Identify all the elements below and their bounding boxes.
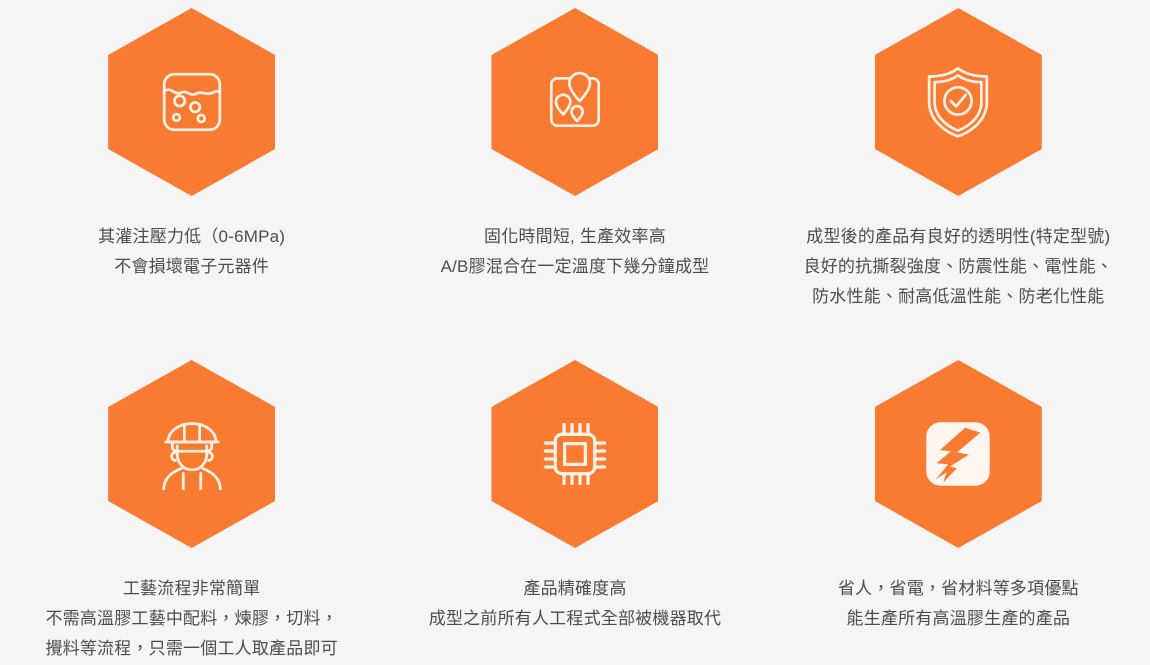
feature-hexagon-1 xyxy=(108,8,275,196)
caption-line: 能生產所有高溫膠生產的產品 xyxy=(838,604,1079,634)
feature-item-3: 成型後的產品有良好的透明性(特定型號) 良好的抗撕裂強度、防震性能、電性能、 防… xyxy=(767,0,1150,312)
worker-helmet-icon xyxy=(157,418,227,490)
caption-line: 其灌注壓力低（0-6MPa) xyxy=(98,222,285,252)
caption-line: 產品精確度高 xyxy=(429,574,721,604)
caption-line: 工藝流程非常簡單 xyxy=(45,574,337,604)
feature-hexagon-2 xyxy=(491,8,658,196)
feature-hexagon-5 xyxy=(491,360,658,548)
feature-caption-6: 省人，省電，省材料等多項優點 能生產所有高溫膠生產的產品 xyxy=(838,574,1079,634)
feature-hexagon-3 xyxy=(875,8,1042,196)
feature-hexagon-4 xyxy=(108,360,275,548)
caption-line: 成型之前所有人工程式全部被機器取代 xyxy=(429,604,721,634)
map-pins-icon xyxy=(542,69,608,135)
shield-check-icon xyxy=(923,65,993,139)
caption-line: 不會損壞電子元器件 xyxy=(98,252,285,282)
caption-line: 防水性能、耐高低溫性能、防老化性能 xyxy=(804,282,1114,312)
lightning-bolt-icon xyxy=(923,419,993,489)
microchip-icon xyxy=(540,419,610,489)
feature-hexagon-6 xyxy=(875,360,1042,548)
feature-item-1: 其灌注壓力低（0-6MPa) 不會損壞電子元器件 xyxy=(0,0,383,282)
feature-item-4: 工藝流程非常簡單 不需高溫膠工藝中配料，煉膠，切料， 攪料等流程，只需一個工人取… xyxy=(0,352,383,664)
liquid-tank-icon xyxy=(159,69,225,135)
feature-item-2: 固化時間短, 生產效率高 A/B膠混合在一定溫度下幾分鐘成型 xyxy=(383,0,766,282)
feature-caption-2: 固化時間短, 生產效率高 A/B膠混合在一定溫度下幾分鐘成型 xyxy=(441,222,710,282)
feature-item-5: 產品精確度高 成型之前所有人工程式全部被機器取代 xyxy=(383,352,766,634)
caption-line: 攪料等流程，只需一個工人取產品即可 xyxy=(45,634,337,664)
caption-line: 良好的抗撕裂強度、防震性能、電性能、 xyxy=(804,252,1114,282)
feature-caption-4: 工藝流程非常簡單 不需高溫膠工藝中配料，煉膠，切料， 攪料等流程，只需一個工人取… xyxy=(45,574,337,664)
features-grid: 其灌注壓力低（0-6MPa) 不會損壞電子元器件 固化時間短, 生產效率高 A/… xyxy=(0,0,1150,665)
feature-caption-5: 產品精確度高 成型之前所有人工程式全部被機器取代 xyxy=(429,574,721,634)
caption-line: 不需高溫膠工藝中配料，煉膠，切料， xyxy=(45,604,337,634)
caption-line: 固化時間短, 生產效率高 xyxy=(441,222,710,252)
caption-line: A/B膠混合在一定溫度下幾分鐘成型 xyxy=(441,252,710,282)
feature-caption-1: 其灌注壓力低（0-6MPa) 不會損壞電子元器件 xyxy=(98,222,285,282)
feature-item-6: 省人，省電，省材料等多項優點 能生產所有高溫膠生產的產品 xyxy=(767,352,1150,634)
caption-line: 成型後的產品有良好的透明性(特定型號) xyxy=(804,222,1114,252)
feature-caption-3: 成型後的產品有良好的透明性(特定型號) 良好的抗撕裂強度、防震性能、電性能、 防… xyxy=(804,222,1114,312)
caption-line: 省人，省電，省材料等多項優點 xyxy=(838,574,1079,604)
